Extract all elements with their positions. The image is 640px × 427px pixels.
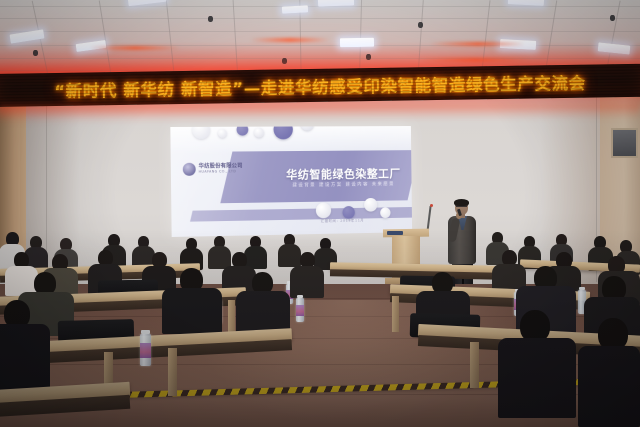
conference-hall-photo: “新时代 新华纺 新智造”—走进华纺感受印染智能智造绿色生产交流会 华纺股份有限…: [0, 0, 640, 427]
bottle-cap: [579, 287, 585, 290]
wall-vent-panel: [611, 128, 638, 158]
attendee-body: [0, 324, 50, 394]
slide-decor-circle: [218, 129, 227, 138]
company-logo: 华纺股份有限公司 HUAFANG CO., LTD: [183, 162, 243, 176]
banner-glow: [0, 104, 640, 120]
presentation-slide: 华纺股份有限公司 HUAFANG CO., LTD 华纺智能绿色染整工厂 建设背…: [170, 126, 412, 237]
bottle-label: [296, 305, 304, 316]
logo-english-name: HUAFANG CO., LTD: [199, 170, 243, 174]
presenter-hair: [454, 199, 469, 206]
bottle-cap: [141, 330, 150, 334]
logo-mark-icon: [183, 163, 196, 176]
slide-date-line: 汇报时间：2019年11月: [299, 217, 386, 223]
attendee-body: [162, 288, 222, 334]
ceiling-light-panel: [340, 38, 374, 48]
podium-mic-head-icon: [430, 204, 433, 207]
slide-decor-circle: [254, 128, 264, 138]
ceiling-speaker-icon: [366, 54, 371, 60]
slide-title: 华纺智能绿色染整工厂: [281, 166, 406, 183]
ceiling-light-panel: [282, 5, 308, 13]
attendee-body: [578, 346, 640, 427]
attendee-body: [498, 338, 576, 418]
desk-leg: [470, 342, 479, 388]
ceiling-speaker-icon: [610, 15, 615, 21]
banner-text: “新时代 新华纺 新智造”—走进华纺感受印染智能智造绿色生产交流会: [54, 69, 586, 101]
lectern-nameplate: [387, 231, 403, 235]
ceiling-speaker-icon: [282, 58, 287, 64]
desk-leg: [168, 348, 177, 396]
projection-screen: 华纺股份有限公司 HUAFANG CO., LTD 华纺智能绿色染整工厂 建设背…: [170, 126, 412, 237]
ceiling-speaker-icon: [208, 16, 213, 22]
bottle-label: [140, 343, 151, 358]
ceiling-speaker-icon: [33, 50, 38, 56]
ceiling-speaker-icon: [418, 22, 423, 28]
attendee-body: [278, 244, 301, 267]
desk-leg: [392, 296, 399, 332]
attendee-body: [290, 266, 324, 298]
bottle-cap: [297, 295, 303, 298]
